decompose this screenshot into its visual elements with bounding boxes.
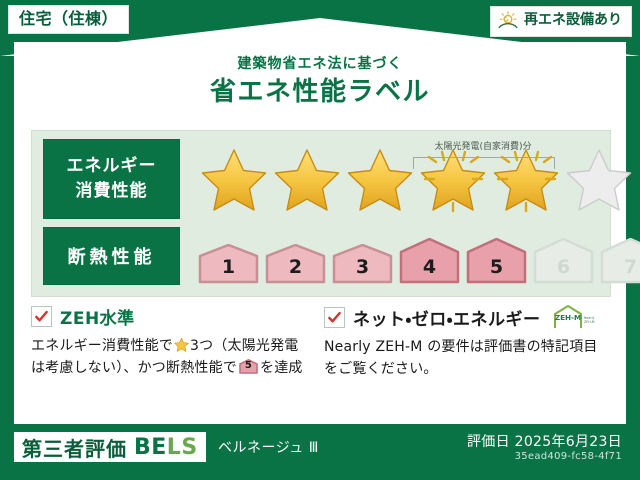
- energy-label-line2: 消費性能: [76, 179, 148, 204]
- bels-logo-part2: LS: [167, 435, 198, 460]
- insulation-grade-5: 5: [466, 238, 527, 284]
- grade-number: 3: [332, 252, 393, 282]
- grade-number: 2: [265, 252, 326, 282]
- insulation-grade-1: 1: [198, 244, 259, 284]
- solar-sun-icon: [497, 10, 519, 32]
- inline-star-icon: [174, 337, 189, 352]
- grade-number: 5: [466, 252, 527, 282]
- grade-number: 7: [600, 252, 640, 282]
- grade-number: 1: [198, 252, 259, 282]
- net-zero-energy-checkbox[interactable]: [324, 307, 345, 328]
- house-type-tag: 住宅（住棟）: [8, 5, 129, 34]
- label-footer: 第三者評価 BELS ベルネージュ Ⅲ 評価日 2025年6月23日 35ead…: [0, 424, 640, 480]
- energy-performance-row: エネルギー 消費性能: [32, 139, 636, 219]
- net-zero-energy-block: ネット・ゼロ・エネルギー ZEH-M Nearly ZEH-M Nearly Z…: [324, 304, 604, 380]
- net-zero-energy-heading: ネット・ゼロ・エネルギー ZEH-M Nearly ZEH-M: [324, 304, 604, 330]
- zeh-desc-part3: を達成: [260, 360, 303, 376]
- star-filled-icon: [273, 147, 341, 211]
- evaluation-id: 35ead409-fc58-4f71: [515, 451, 622, 462]
- ratings-panel: エネルギー 消費性能: [31, 130, 611, 297]
- bels-jp-label: 第三者評価: [22, 433, 127, 462]
- insulation-grade-4: 4: [399, 238, 460, 284]
- zeh-desc-part1: エネルギー消費性能で: [31, 338, 173, 354]
- label-body-card: 建築物省エネ法に基づく 省エネ性能ラベル エネルギー 消費性能: [14, 42, 626, 424]
- solar-contribution-bracket: 太陽光発電(自家消費)分: [407, 143, 559, 173]
- zeh-standard-description: エネルギー消費性能で3つ（太陽光発電は考慮しない）、かつ断熱性能で5を達成: [31, 336, 311, 379]
- net-zero-energy-description: Nearly ZEH-M の要件は評価書の特記項目をご覧ください。: [324, 337, 604, 380]
- check-icon: [327, 310, 342, 325]
- insulation-label-text: 断熱性能: [68, 243, 156, 269]
- renewable-equipment-label: 再エネ設備あり: [524, 13, 622, 28]
- bels-logo-part1: BE: [134, 435, 167, 460]
- title-subtitle: 建築物省エネ法に基づく: [14, 56, 626, 73]
- net-zero-energy-title: ネット・ゼロ・エネルギー: [353, 305, 541, 330]
- title-block: 建築物省エネ法に基づく 省エネ性能ラベル: [14, 56, 626, 108]
- energy-performance-label: エネルギー 消費性能: [43, 139, 180, 219]
- solar-bracket-note: 太陽光発電(自家消費)分: [407, 143, 559, 153]
- renewable-equipment-badge: 再エネ設備あり: [490, 6, 632, 37]
- title-main: 省エネ性能ラベル: [14, 77, 626, 108]
- star-empty-icon: [565, 147, 633, 211]
- zeh-m-logo-text: ZEH-M: [554, 313, 580, 322]
- zeh-standard-heading: ZEH水準: [31, 304, 311, 329]
- zeh-standard-title: ZEH水準: [60, 304, 135, 329]
- energy-performance-label: 住宅（住棟） 再エネ設備あり 建築物省エネ法に基づく 省エネ性能ラベル: [0, 0, 640, 480]
- bels-en-logo: BELS: [134, 435, 198, 460]
- building-name: ベルネージュ Ⅲ: [218, 437, 319, 457]
- star-filled-icon: [346, 147, 414, 211]
- inline-grade-number: 5: [239, 359, 258, 374]
- insulation-grade-6: 6: [533, 238, 594, 284]
- inline-grade-badge: 5: [239, 359, 258, 374]
- house-type-label: 住宅（住棟）: [19, 9, 118, 28]
- solar-bracket-line: [413, 157, 555, 169]
- zeh-standard-checkbox[interactable]: [31, 306, 52, 327]
- grade-number: 6: [533, 252, 594, 282]
- star-filled-icon: [200, 147, 268, 211]
- evaluation-date: 評価日 2025年6月23日: [467, 431, 622, 451]
- star-1: [198, 143, 271, 215]
- insulation-grade-7: 7: [600, 238, 640, 284]
- zeh-standard-block: ZEH水準 エネルギー消費性能で3つ（太陽光発電は考慮しない）、かつ断熱性能で5…: [31, 304, 311, 379]
- insulation-performance-row: 断熱性能 1 2: [32, 225, 640, 287]
- grade-number: 4: [399, 252, 460, 282]
- check-icon: [34, 309, 49, 324]
- energy-label-line1: エネルギー: [67, 154, 157, 179]
- bels-certification-mark: 第三者評価 BELS: [14, 432, 206, 462]
- star-6-empty: [563, 143, 636, 215]
- zeh-m-logo-icon: ZEH-M Nearly ZEH-M: [551, 304, 597, 330]
- star-2: [271, 143, 344, 215]
- insulation-grade-scale: 1 2 3: [198, 228, 640, 284]
- insulation-performance-label: 断熱性能: [43, 227, 180, 285]
- insulation-grade-2: 2: [265, 244, 326, 284]
- zeh-m-logo-sub-line2: ZEH-M: [584, 320, 595, 324]
- insulation-grade-3: 3: [332, 244, 393, 284]
